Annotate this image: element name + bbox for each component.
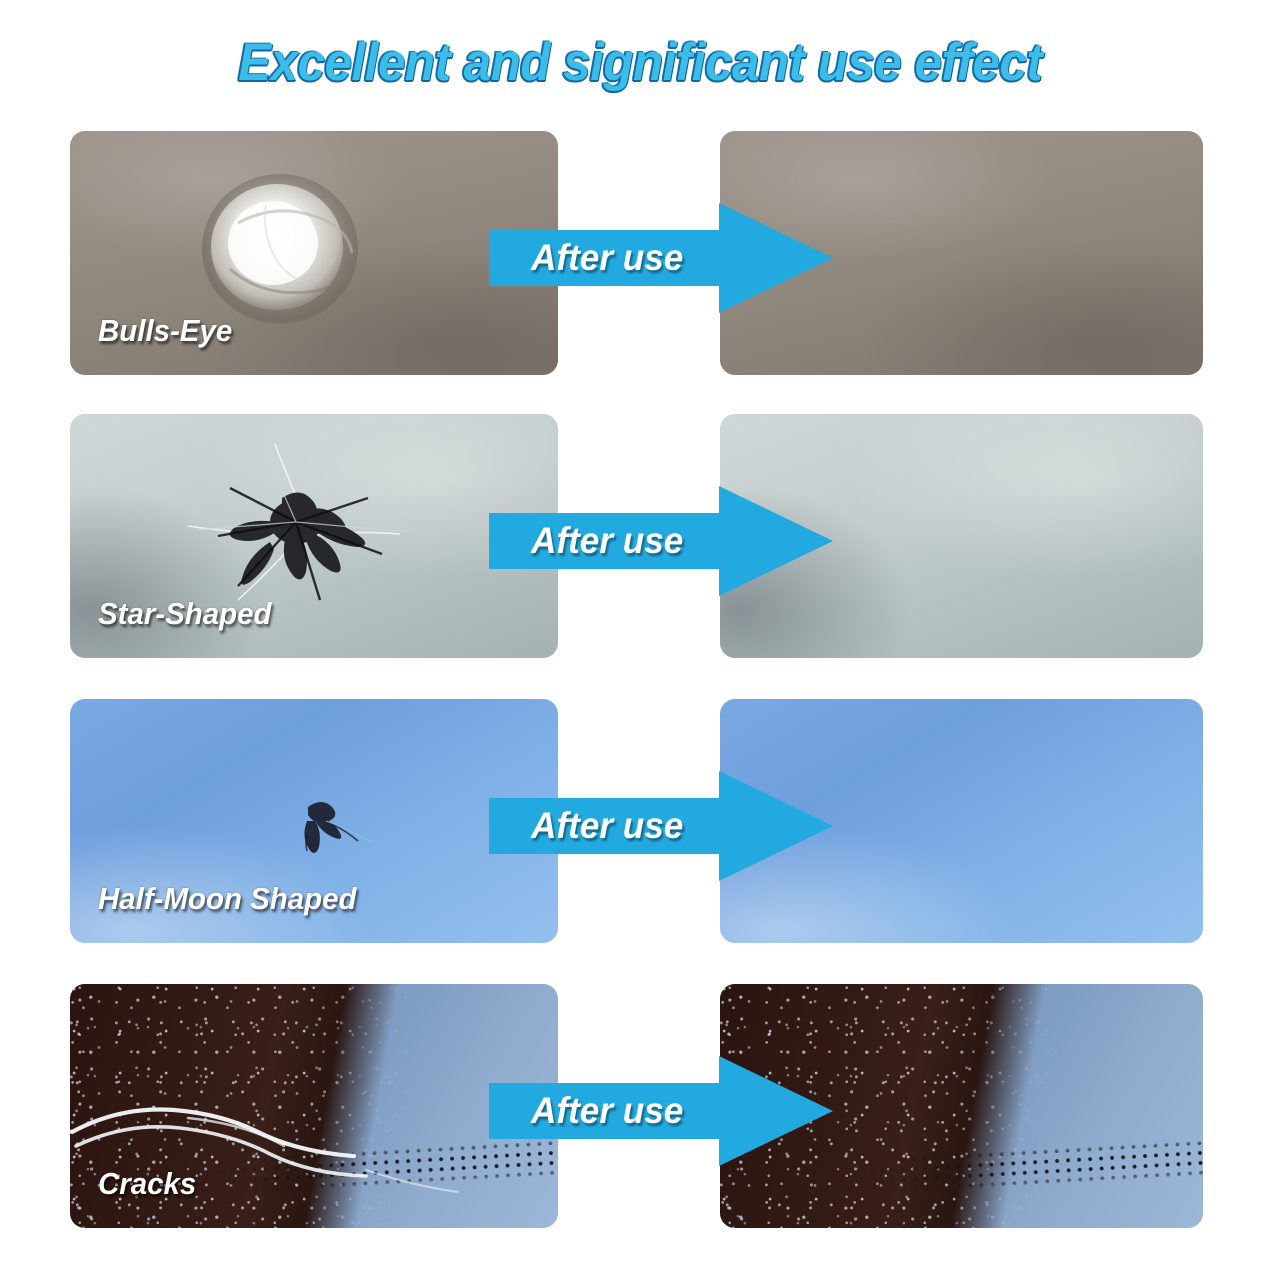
arrow-right-icon (489, 771, 833, 881)
defect-caption: Half-Moon Shaped (98, 881, 357, 917)
comparison-row-cracks: Cracks After use (0, 984, 1280, 1228)
arrow-right-icon (489, 1056, 833, 1166)
title-bar: Excellent and significant use effect (0, 32, 1280, 93)
after-use-arrow: After use (489, 203, 833, 313)
page-title: Excellent and significant use effect (238, 32, 1042, 93)
comparison-row-half-moon-shaped: Half-Moon Shaped After use (0, 699, 1280, 943)
before-image-star-shaped: Star-Shaped (70, 414, 558, 658)
before-image-bulls-eye: Bulls-Eye (70, 131, 558, 375)
defect-caption: Star-Shaped (98, 596, 271, 632)
before-image-half-moon-shaped: Half-Moon Shaped (70, 699, 558, 943)
comparison-row-bulls-eye: Bulls-Eye After use (0, 131, 1280, 375)
defect-caption: Bulls-Eye (98, 313, 232, 349)
arrow-right-icon (489, 203, 833, 313)
after-use-arrow: After use (489, 486, 833, 596)
after-use-arrow: After use (489, 1056, 833, 1166)
comparison-row-star-shaped: Star-Shaped After use (0, 414, 1280, 658)
before-image-cracks: Cracks (70, 984, 558, 1228)
arrow-right-icon (489, 486, 833, 596)
defect-caption: Cracks (98, 1166, 196, 1202)
after-use-arrow: After use (489, 771, 833, 881)
branch-strands-texture (942, 984, 1068, 1160)
